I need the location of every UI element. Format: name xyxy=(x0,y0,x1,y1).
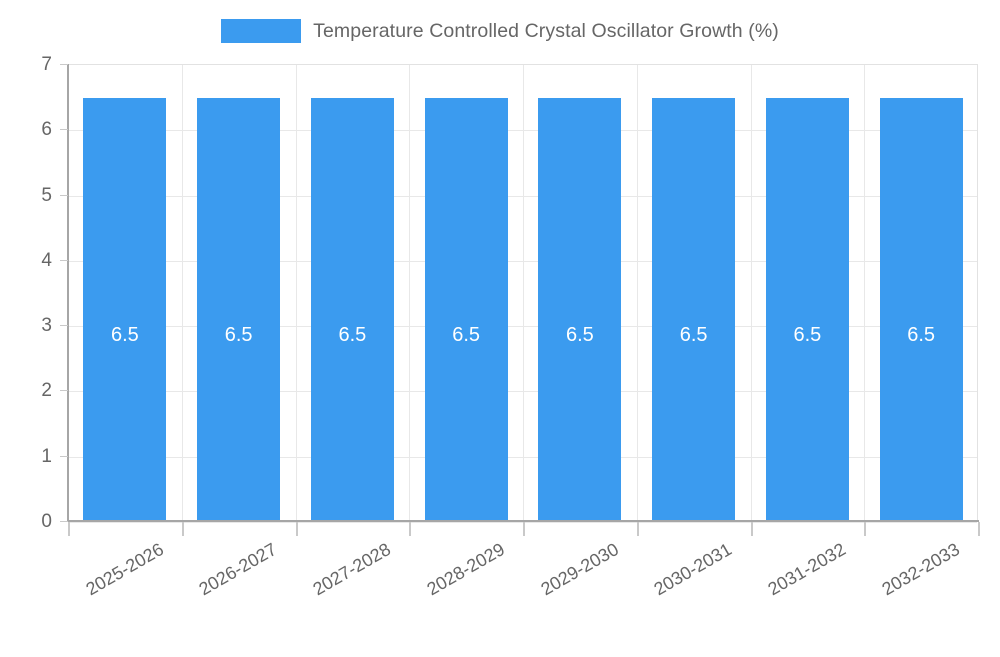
x-axis-tick xyxy=(637,522,639,536)
bar[interactable] xyxy=(880,98,963,522)
x-axis-tick xyxy=(182,522,184,536)
y-axis-tick xyxy=(60,260,68,261)
legend-color-swatch[interactable] xyxy=(221,19,301,43)
bar-value-label: 6.5 xyxy=(766,325,849,345)
bar-value-label: 6.5 xyxy=(311,325,394,345)
gridline-vertical xyxy=(751,65,752,521)
legend-label[interactable]: Temperature Controlled Crystal Oscillato… xyxy=(313,20,779,43)
bar-chart: Temperature Controlled Crystal Oscillato… xyxy=(0,0,1000,600)
gridline-vertical xyxy=(523,65,524,521)
x-axis-tick xyxy=(296,522,298,536)
bar[interactable] xyxy=(83,98,166,522)
bar-value-label: 6.5 xyxy=(83,325,166,345)
bar[interactable] xyxy=(538,98,621,522)
x-axis-tick xyxy=(68,522,70,536)
bar[interactable] xyxy=(652,98,735,522)
y-axis-tick xyxy=(60,325,68,326)
bar[interactable] xyxy=(766,98,849,522)
y-axis-label: 4 xyxy=(0,251,52,270)
bar-value-label: 6.5 xyxy=(652,325,735,345)
y-axis-label: 3 xyxy=(0,316,52,335)
y-axis-label: 7 xyxy=(0,55,52,74)
gridline-vertical xyxy=(296,65,297,521)
y-axis-line xyxy=(67,64,69,522)
bar-value-label: 6.5 xyxy=(538,325,621,345)
gridline-vertical xyxy=(637,65,638,521)
bar[interactable] xyxy=(425,98,508,522)
bar[interactable] xyxy=(311,98,394,522)
bar[interactable] xyxy=(197,98,280,522)
bar-value-label: 6.5 xyxy=(425,325,508,345)
gridline-vertical xyxy=(864,65,865,521)
x-axis-label: 2025-2026 xyxy=(0,539,167,657)
y-axis-tick xyxy=(60,195,68,196)
chart-legend: Temperature Controlled Crystal Oscillato… xyxy=(0,14,1000,48)
y-axis-label: 0 xyxy=(0,512,52,531)
y-axis-tick xyxy=(60,456,68,457)
x-axis-tick xyxy=(864,522,866,536)
y-axis-label: 1 xyxy=(0,447,52,466)
y-axis-tick xyxy=(60,129,68,130)
bar-value-label: 6.5 xyxy=(880,325,963,345)
y-axis-tick xyxy=(60,521,68,522)
y-axis-tick xyxy=(60,64,68,65)
x-axis-tick xyxy=(523,522,525,536)
y-axis-label: 2 xyxy=(0,381,52,400)
y-axis-label: 6 xyxy=(0,120,52,139)
y-axis-label: 5 xyxy=(0,186,52,205)
gridline-vertical xyxy=(409,65,410,521)
plot-area: 6.56.56.56.56.56.56.56.5 xyxy=(68,64,978,521)
x-axis-tick xyxy=(978,522,980,536)
x-axis-tick xyxy=(409,522,411,536)
x-axis-tick xyxy=(751,522,753,536)
y-axis-tick xyxy=(60,390,68,391)
bar-value-label: 6.5 xyxy=(197,325,280,345)
gridline-vertical xyxy=(182,65,183,521)
